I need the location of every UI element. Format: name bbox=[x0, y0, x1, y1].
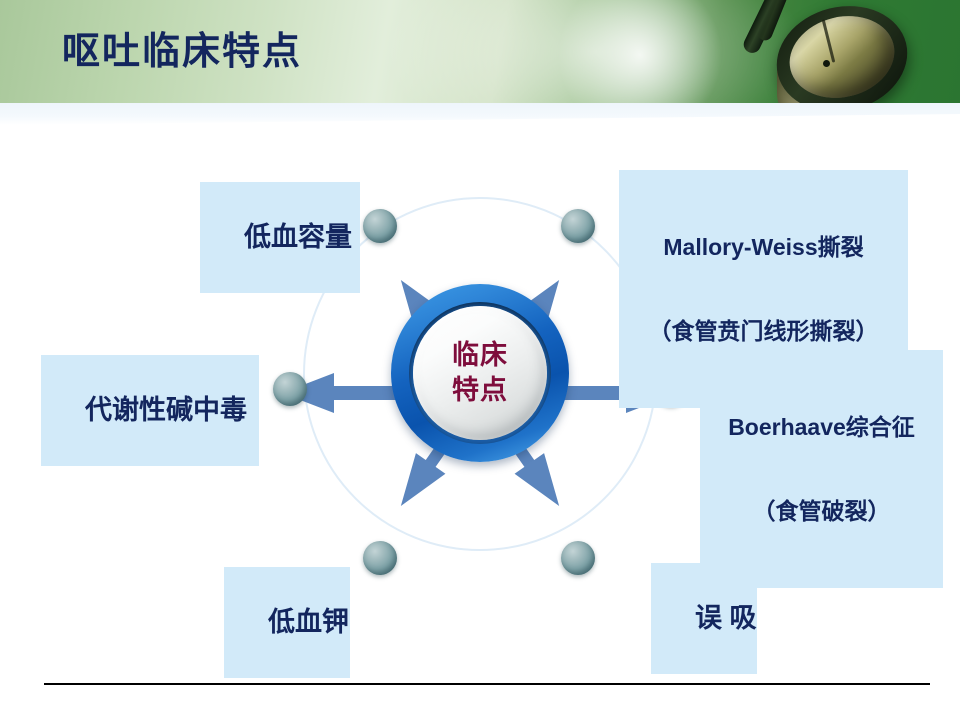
label-aspiration-text: 误 吸 bbox=[695, 603, 757, 633]
stethoscope-center-dot-icon bbox=[823, 60, 830, 67]
label-mallory-weiss-line1: Mallory-Weiss撕裂 bbox=[633, 233, 894, 261]
label-aspiration[interactable]: 误 吸 bbox=[651, 563, 757, 674]
node-metabolic-alkalosis[interactable] bbox=[273, 372, 307, 406]
stethoscope-photo bbox=[580, 0, 960, 104]
hub-label-line2: 特点 bbox=[452, 373, 508, 408]
node-hypokalemia[interactable] bbox=[363, 541, 397, 575]
label-boerhaave[interactable]: Boerhaave综合征 （食管破裂） bbox=[700, 350, 943, 588]
label-boerhaave-line2: （食管破裂） bbox=[714, 497, 929, 525]
node-mallory-weiss[interactable] bbox=[561, 209, 595, 243]
label-metabolic-alkalosis-text: 代谢性碱中毒 bbox=[85, 395, 247, 425]
hub-face: 临床 特点 bbox=[413, 306, 547, 440]
label-mallory-weiss-line2: （食管贲门线形撕裂） bbox=[633, 317, 894, 345]
label-metabolic-alkalosis[interactable]: 代谢性碱中毒 bbox=[41, 355, 259, 466]
label-hypovolemia-text: 低血容量 bbox=[244, 222, 352, 252]
label-boerhaave-line1: Boerhaave综合征 bbox=[714, 413, 929, 441]
page-title: 呕吐临床特点 bbox=[62, 33, 302, 71]
radial-diagram: 临床 特点 低血容量 Mallory-Weiss撕裂 （食管贲门线形撕裂） 代谢… bbox=[0, 104, 960, 664]
label-hypokalemia-text: 低血钾 bbox=[268, 607, 349, 637]
label-hypovolemia[interactable]: 低血容量 bbox=[200, 182, 360, 293]
node-hypovolemia[interactable] bbox=[363, 209, 397, 243]
label-hypokalemia[interactable]: 低血钾 bbox=[224, 567, 350, 678]
node-aspiration[interactable] bbox=[561, 541, 595, 575]
hub-label-line1: 临床 bbox=[452, 338, 508, 373]
center-hub[interactable]: 临床 特点 bbox=[391, 284, 569, 462]
bottom-divider-rule bbox=[44, 683, 930, 685]
